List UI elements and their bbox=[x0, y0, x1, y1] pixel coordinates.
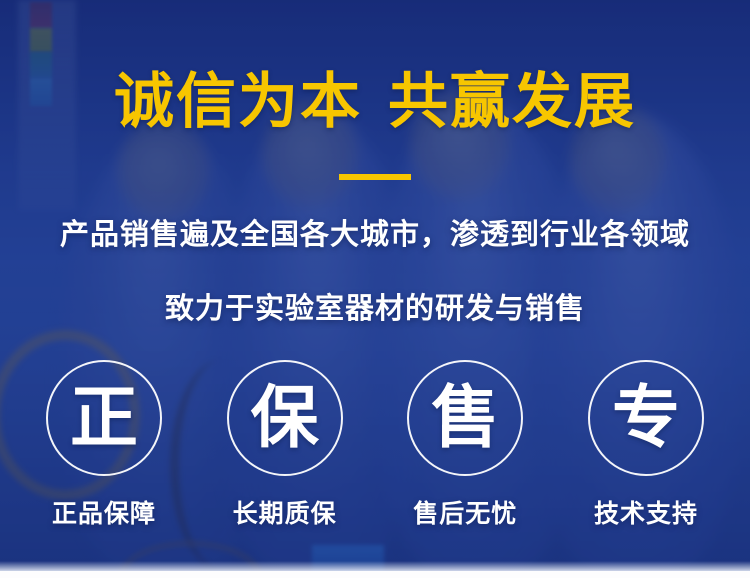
subtitle-line-2: 致力于实验室器材的研发与销售 bbox=[0, 285, 750, 327]
badge-character: 正 bbox=[70, 384, 138, 452]
badge-character: 售 bbox=[431, 384, 499, 452]
badge-item: 售 售后无忧 bbox=[406, 360, 524, 530]
badge-label: 长期质保 bbox=[233, 494, 337, 530]
badge-character: 专 bbox=[612, 384, 680, 452]
badge-label: 正品保障 bbox=[52, 494, 156, 530]
badge-circle: 正 bbox=[46, 360, 162, 476]
badge-character: 保 bbox=[251, 384, 319, 452]
bottom-white-strip bbox=[0, 571, 750, 578]
badge-circle: 专 bbox=[588, 360, 704, 476]
badge-circle: 售 bbox=[407, 360, 523, 476]
badge-item: 保 长期质保 bbox=[226, 360, 344, 530]
headline-part-1: 诚信为本 bbox=[114, 68, 362, 135]
banner-content: 诚信为本共赢发展 产品销售遍及全国各大城市，渗透到行业各领域 致力于实验室器材的… bbox=[0, 0, 750, 578]
badge-label: 技术支持 bbox=[594, 494, 698, 530]
headline-part-2: 共赢发展 bbox=[388, 68, 636, 135]
badge-item: 专 技术支持 bbox=[587, 360, 705, 530]
badge-item: 正 正品保障 bbox=[45, 360, 163, 530]
promo-banner: 诚信为本共赢发展 产品销售遍及全国各大城市，渗透到行业各领域 致力于实验室器材的… bbox=[0, 0, 750, 578]
badge-circle: 保 bbox=[227, 360, 343, 476]
bottom-fade bbox=[0, 561, 750, 571]
badge-label: 售后无忧 bbox=[413, 494, 517, 530]
yellow-divider bbox=[339, 174, 411, 180]
subtitle-line-1: 产品销售遍及全国各大城市，渗透到行业各领域 bbox=[0, 211, 750, 253]
badge-row: 正 正品保障 保 长期质保 售 售后无忧 专 技术支持 bbox=[45, 360, 705, 530]
headline: 诚信为本共赢发展 bbox=[0, 72, 750, 132]
